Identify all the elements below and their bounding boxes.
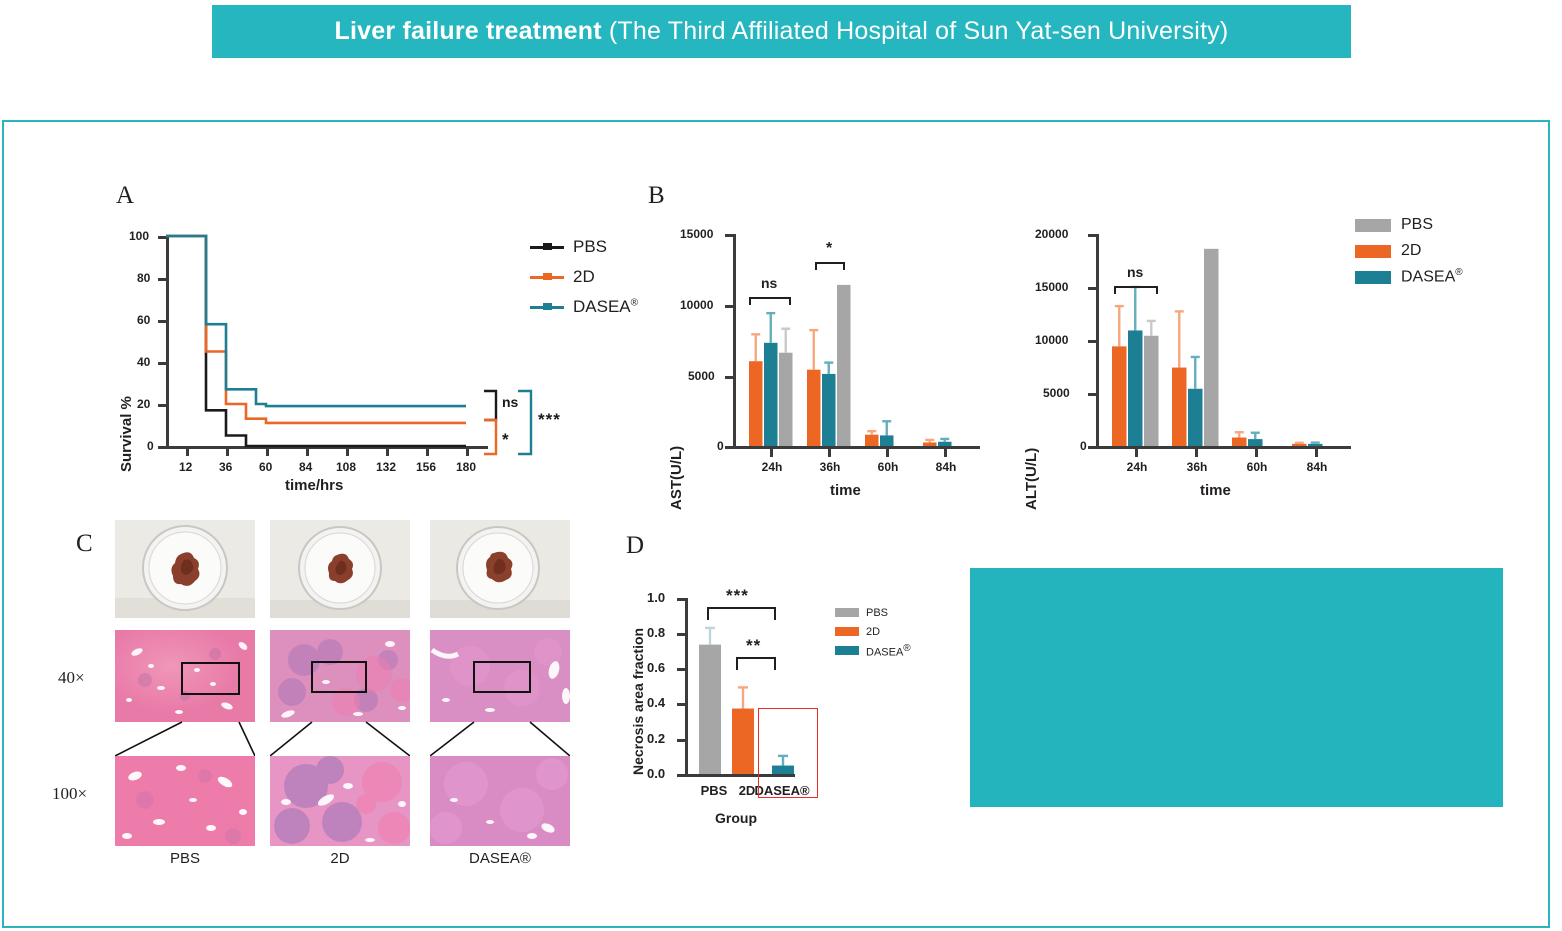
panel-a-legend-item-pbs[interactable]: PBS	[530, 232, 638, 262]
two-d-line-marker-icon	[530, 270, 564, 284]
panel-a-annotation-triple-star: ***	[538, 410, 561, 430]
panel-a-annotation-star: *	[502, 430, 510, 450]
header-band: Liver failure treatment (The Third Affil…	[212, 5, 1351, 58]
panel-a-legend-label-dasea: DASEA®	[573, 297, 638, 317]
ast-xticklabel-84h: 84h	[926, 460, 966, 474]
panel-a-legend-item-2d[interactable]: 2D	[530, 262, 638, 292]
zoom-connector-2d	[270, 720, 410, 758]
petri-dish-photo-dasea	[430, 520, 570, 618]
panel-c-column-label-dasea: DASEA®	[455, 850, 545, 867]
dasea-line-marker-icon	[530, 300, 564, 314]
pbs-swatch-icon	[1355, 219, 1391, 232]
ast-annotation-ns: ns	[761, 275, 777, 291]
petri-dish-photo-2d	[270, 520, 410, 618]
necrosis-annotation-triple-star: ***	[726, 586, 749, 606]
panel-a-legend-item-dasea[interactable]: DASEA®	[530, 292, 638, 322]
alt-xticklabel-60h: 60h	[1237, 460, 1277, 474]
panel-b-legend-label-2d: 2D	[1401, 242, 1421, 260]
panel-d-legend-item-dasea[interactable]: DASEA®	[835, 641, 911, 660]
histology-100x-dasea	[430, 756, 570, 846]
ast-xticklabel-36h: 36h	[810, 460, 850, 474]
panel-c-letter: C	[76, 530, 93, 558]
histology-40x-pbs	[115, 630, 255, 722]
teal-placeholder-block	[970, 568, 1503, 807]
two-d-swatch-icon	[1355, 245, 1391, 258]
alt-xticklabel-84h: 84h	[1297, 460, 1337, 474]
ast-xticklabel-24h: 24h	[752, 460, 792, 474]
panel-d-legend-label-dasea: DASEA®	[866, 643, 911, 659]
pbs-swatch-icon	[835, 608, 859, 617]
histology-40x-2d	[270, 630, 410, 722]
panel-d-legend-label-2d: 2D	[866, 626, 880, 638]
panel-b-legend-item-2d[interactable]: 2D	[1355, 238, 1463, 264]
histology-100x-pbs	[115, 756, 255, 846]
panel-b-ast-chart: AST(U/L) 15000 10000 5000 0 24h 36h 60h …	[660, 220, 990, 500]
alt-significance-brackets	[1015, 220, 1355, 460]
ast-xticklabel-60h: 60h	[868, 460, 908, 474]
alt-xticklabel-24h: 24h	[1117, 460, 1157, 474]
panel-a-survival-chart: Survival % 100 80 60 40 20 0 12 36 60 84…	[110, 180, 650, 500]
panel-a-annotation-ns: ns	[502, 394, 518, 410]
panel-c-row-label-100x: 100×	[52, 784, 87, 804]
panel-d-legend: PBS 2D DASEA®	[835, 603, 911, 660]
necrosis-annotation-double-star: **	[746, 636, 761, 656]
page-title-bold: Liver failure treatment	[335, 17, 602, 45]
alt-x-axis-title: time	[1200, 482, 1231, 499]
histology-40x-dasea	[430, 630, 570, 722]
panel-b-legend-item-pbs[interactable]: PBS	[1355, 212, 1463, 238]
panel-d-legend-label-pbs: PBS	[866, 607, 888, 619]
panel-b-legend-label-pbs: PBS	[1401, 216, 1433, 234]
panel-c-column-label-2d: 2D	[295, 850, 385, 867]
histology-100x-2d	[270, 756, 410, 846]
zoom-connector-dasea	[430, 720, 570, 758]
panel-a-curves	[110, 180, 530, 480]
panel-a-legend: PBS 2D DASEA®	[530, 232, 638, 322]
panel-d-legend-item-pbs[interactable]: PBS	[835, 603, 911, 622]
dasea-swatch-icon	[835, 646, 859, 655]
panel-b-legend-label-dasea: DASEA®	[1401, 267, 1463, 286]
zoom-connector-pbs	[115, 720, 255, 758]
panel-a-legend-label-2d: 2D	[573, 267, 595, 287]
panel-b-alt-chart: ALT(U/L) 20000 15000 10000 5000 0 24h 36…	[1015, 220, 1355, 500]
panel-d-legend-item-2d[interactable]: 2D	[835, 622, 911, 641]
panel-b-legend-item-dasea[interactable]: DASEA®	[1355, 264, 1463, 290]
page-title-subtitle: (The Third Affiliated Hospital of Sun Ya…	[602, 17, 1229, 45]
panel-c-column-label-pbs: PBS	[140, 850, 230, 867]
alt-xticklabel-36h: 36h	[1177, 460, 1217, 474]
petri-dish-photo-pbs	[115, 520, 255, 618]
panel-b-letter: B	[648, 182, 665, 210]
ast-x-axis-title: time	[830, 482, 861, 499]
ast-annotation-star: *	[826, 240, 833, 258]
panel-a-legend-label-pbs: PBS	[573, 237, 607, 257]
panel-d-letter: D	[626, 532, 644, 560]
two-d-swatch-icon	[835, 627, 859, 636]
necrosis-highlight-box	[758, 708, 818, 798]
pbs-line-marker-icon	[530, 240, 564, 254]
necrosis-x-axis-title: Group	[715, 810, 757, 826]
ast-significance-brackets	[660, 220, 990, 460]
dasea-swatch-icon	[1355, 271, 1391, 284]
alt-annotation-ns: ns	[1127, 264, 1143, 280]
page-title: Liver failure treatment (The Third Affil…	[335, 17, 1229, 46]
panel-b-legend: PBS 2D DASEA®	[1355, 212, 1463, 290]
panel-c-row-label-40x: 40×	[58, 668, 85, 688]
